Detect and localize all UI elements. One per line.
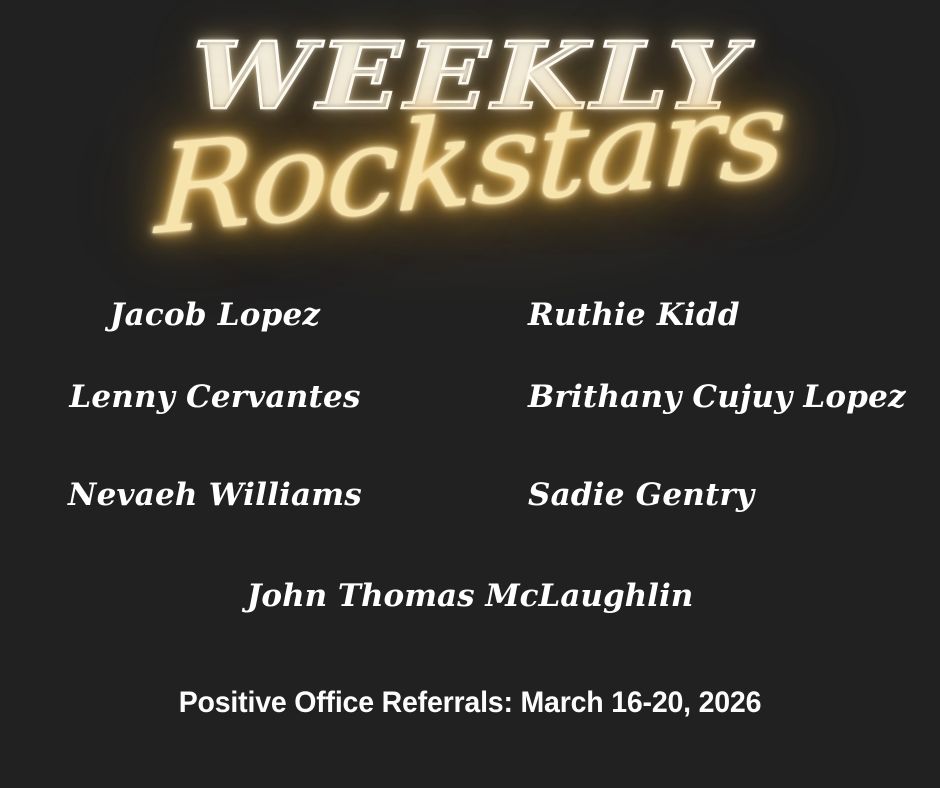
honoree-row: Lenny Cervantes Brithany Cujuy Lopez xyxy=(0,382,940,480)
honoree-list: Jacob Lopez Ruthie Kidd Lenny Cervantes … xyxy=(0,300,940,676)
neon-sign-headline: WEEKLY Rockstars xyxy=(0,14,940,264)
honoree-name: Brithany Cujuy Lopez xyxy=(470,382,930,413)
honoree-name: Ruthie Kidd xyxy=(470,300,930,331)
honoree-row-solo: John Thomas McLaughlin xyxy=(0,578,940,676)
honoree-name: Nevaeh Williams xyxy=(0,480,430,511)
poster-caption: Positive Office Referrals: March 16-20, … xyxy=(24,686,917,720)
honoree-name: Lenny Cervantes xyxy=(0,382,430,413)
honoree-row: Nevaeh Williams Sadie Gentry xyxy=(0,480,940,578)
honoree-row: Jacob Lopez Ruthie Kidd xyxy=(0,300,940,382)
honoree-name: John Thomas McLaughlin xyxy=(0,578,940,614)
weekly-rockstars-poster: WEEKLY Rockstars Jacob Lopez Ruthie Kidd… xyxy=(0,0,940,788)
honoree-name: Sadie Gentry xyxy=(470,480,930,511)
headline-weekly: WEEKLY xyxy=(0,30,940,122)
honoree-name: Jacob Lopez xyxy=(0,300,430,331)
